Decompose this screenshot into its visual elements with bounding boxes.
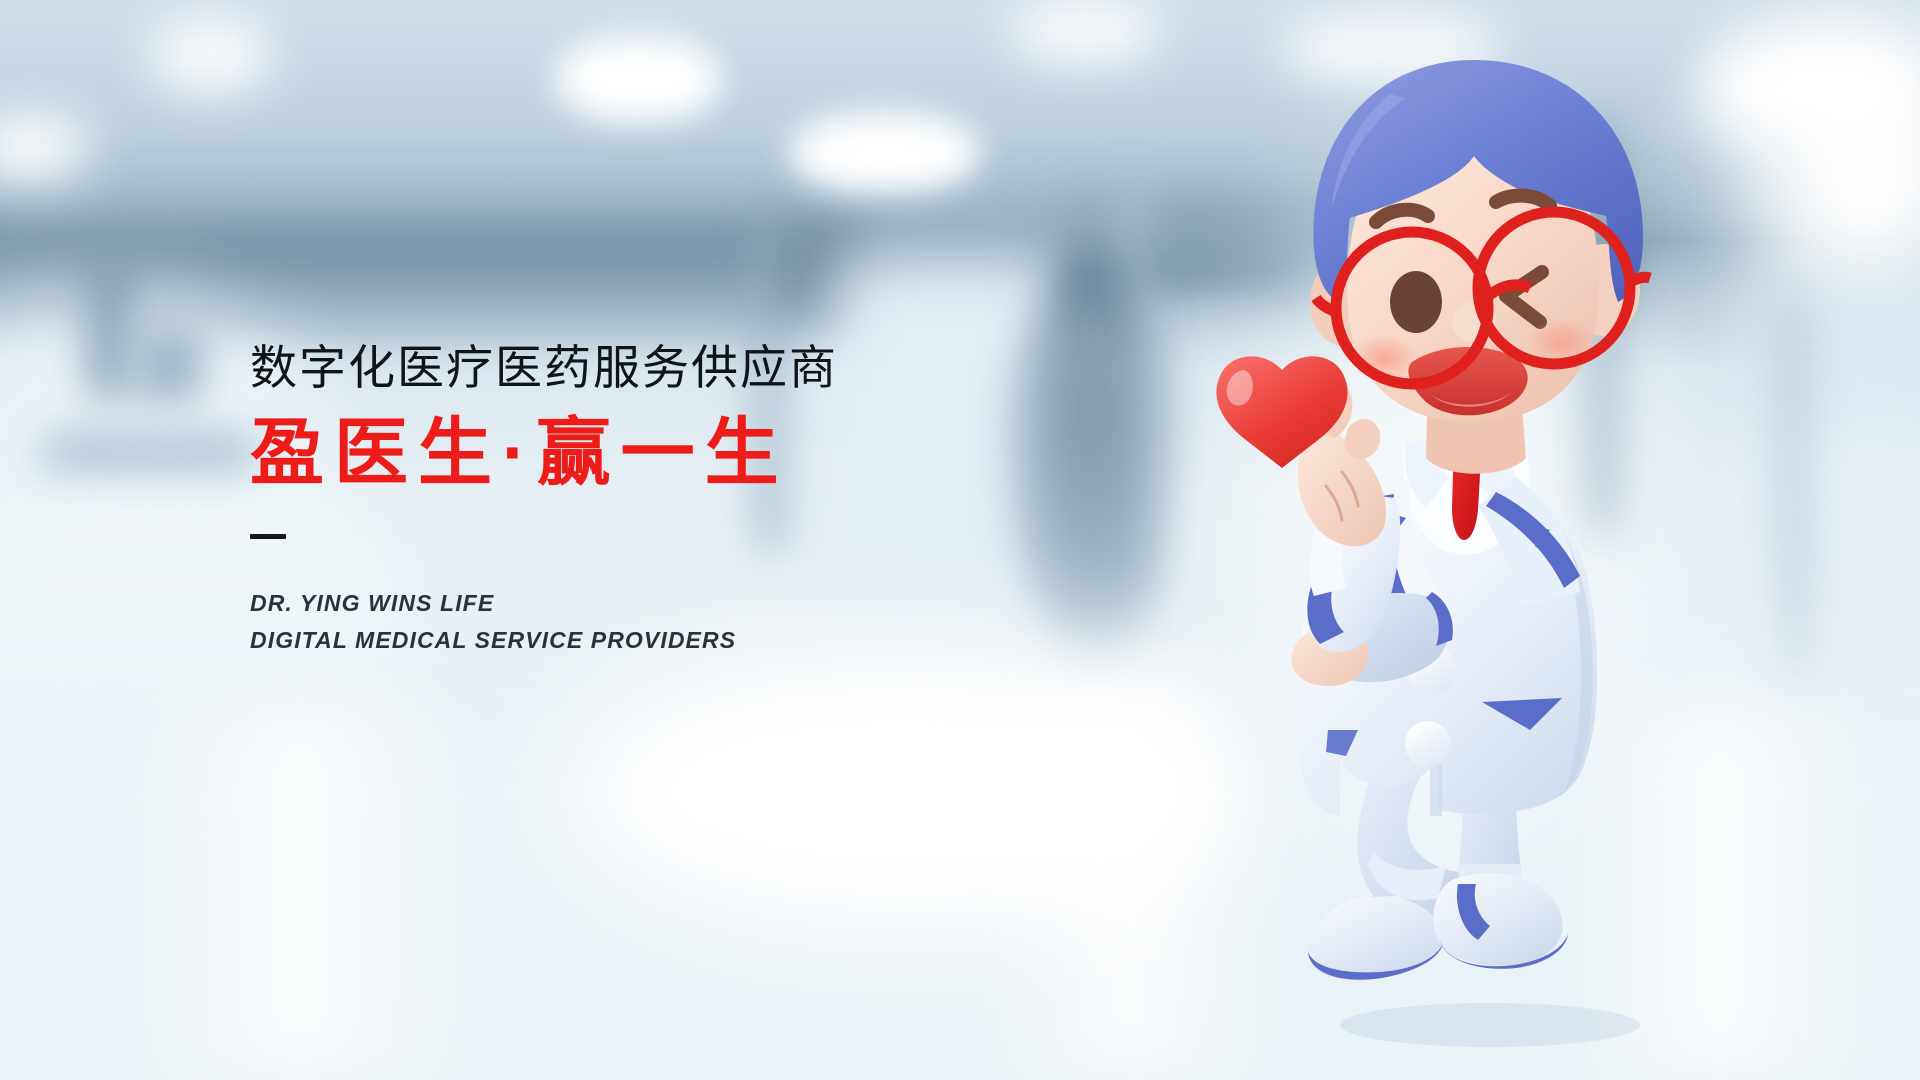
floor-reflection-1 <box>120 700 480 1080</box>
ceiling-light-1 <box>150 20 270 90</box>
eye-open <box>1390 271 1442 333</box>
ceiling-light-3 <box>790 112 980 194</box>
floor-glow-center <box>560 640 1260 940</box>
character-shadow <box>1340 1003 1640 1047</box>
shelf-right-1 <box>1756 290 1920 410</box>
shoe-back <box>1307 896 1444 980</box>
head-group <box>1310 60 1650 422</box>
subtitle-line-2: DIGITAL MEDICAL SERVICE PROVIDERS <box>250 622 1010 659</box>
doctor-mascot-illustration <box>1190 40 1750 1050</box>
hero-subtitle: DR. YING WINS LIFE DIGITAL MEDICAL SERVI… <box>250 585 1010 660</box>
subtitle-line-1: DR. YING WINS LIFE <box>250 585 1010 622</box>
shelf-divider-right <box>1786 300 1800 700</box>
coat-button-bottom <box>1405 721 1451 767</box>
thumb <box>1344 419 1380 459</box>
glasses-temple-right <box>1630 277 1650 282</box>
title-divider <box>250 534 286 539</box>
dark-frame-left-2 <box>140 330 200 400</box>
hero-banner: 数字化医疗医药服务供应商 盈医生·赢一生 DR. YING WINS LIFE … <box>0 0 1920 1080</box>
blurred-person-head <box>1052 244 1124 324</box>
counter-shadow-left <box>40 432 260 472</box>
shoe-front <box>1433 873 1562 966</box>
hero-headline: 数字化医疗医药服务供应商 <box>250 340 1010 395</box>
ceiling-light-2 <box>556 36 721 122</box>
hero-title: 盈医生·赢一生 <box>250 411 1010 495</box>
hero-copy: 数字化医疗医药服务供应商 盈医生·赢一生 DR. YING WINS LIFE … <box>250 340 1010 659</box>
ceiling-light-7 <box>1010 0 1160 60</box>
dark-frame-left <box>90 248 130 398</box>
